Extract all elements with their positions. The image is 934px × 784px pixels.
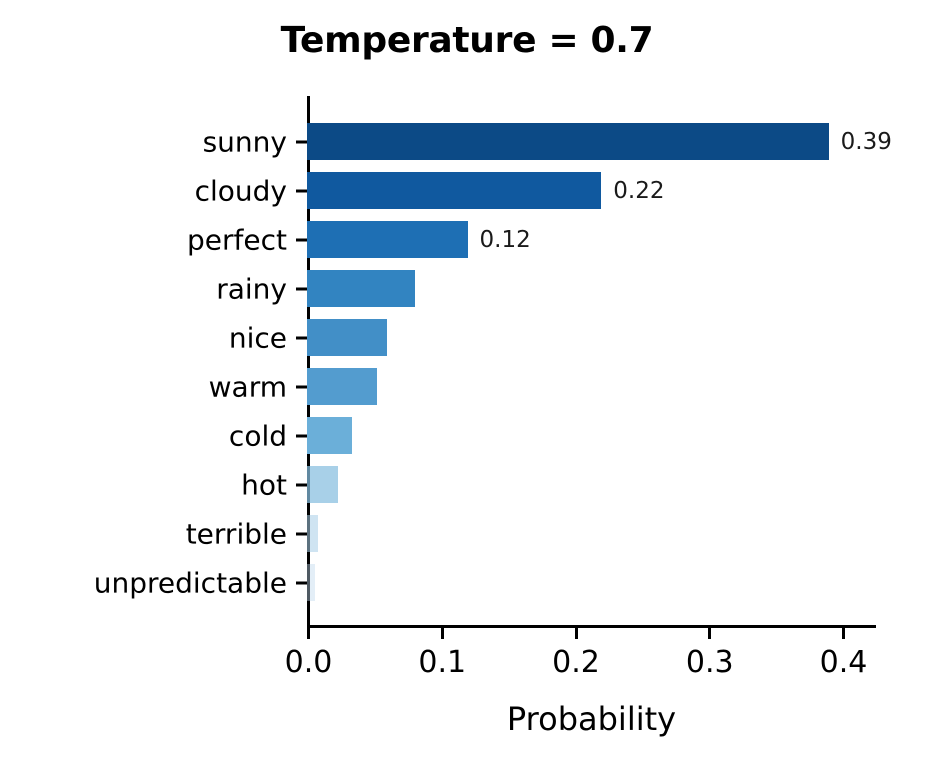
y-tick-label-warm: warm [209, 370, 287, 403]
bar-sunny [307, 123, 829, 160]
bar-terrible [307, 515, 318, 552]
y-tick-mark [296, 434, 307, 437]
x-tick-mark [441, 628, 444, 639]
x-tick-mark [575, 628, 578, 639]
y-tick-label-nice: nice [229, 321, 287, 354]
y-tick-mark [296, 483, 307, 486]
y-tick-label-hot: hot [241, 468, 287, 501]
y-tick-mark [296, 532, 307, 535]
bar-row: 0.22 [307, 172, 876, 209]
bar-row [307, 564, 876, 601]
y-tick-mark [296, 581, 307, 584]
bar-hot [307, 466, 338, 503]
y-tick-label-rainy: rainy [216, 272, 287, 305]
x-tick-label-0.1: 0.1 [418, 645, 466, 680]
bars-layer: 0.390.220.12 [307, 96, 876, 625]
chart-figure: Temperature = 0.7 sunnycloudyperfectrain… [0, 0, 934, 784]
y-tick-mark [296, 385, 307, 388]
bar-value-label: 0.39 [841, 129, 892, 155]
bar-row: 0.12 [307, 221, 876, 258]
y-tick-label-unpredictable: unpredictable [94, 566, 287, 599]
bar-value-label: 0.22 [613, 178, 664, 204]
bar-perfect [307, 221, 468, 258]
bar-row [307, 417, 876, 454]
y-tick-label-cold: cold [229, 419, 287, 452]
x-tick-mark [842, 628, 845, 639]
bar-row: 0.39 [307, 123, 876, 160]
y-tick-label-perfect: perfect [187, 223, 287, 256]
bar-unpredictable [307, 564, 315, 601]
x-tick-mark [307, 628, 310, 639]
y-tick-label-cloudy: cloudy [195, 174, 287, 207]
x-axis-spine [307, 625, 876, 628]
bar-rainy [307, 270, 415, 307]
bar-cold [307, 417, 352, 454]
bar-row [307, 270, 876, 307]
plot-area: 0.390.220.12 [307, 96, 876, 625]
x-tick-mark [708, 628, 711, 639]
bar-nice [307, 319, 387, 356]
y-tick-mark [296, 336, 307, 339]
bar-row [307, 515, 876, 552]
bar-cloudy [307, 172, 601, 209]
bar-row [307, 319, 876, 356]
bar-warm [307, 368, 377, 405]
y-tick-label-terrible: terrible [186, 517, 287, 550]
x-axis-label: Probability [307, 700, 876, 738]
bar-row [307, 466, 876, 503]
x-tick-label-0.2: 0.2 [552, 645, 600, 680]
bar-value-label: 0.12 [480, 227, 531, 253]
bar-row [307, 368, 876, 405]
y-tick-mark [296, 189, 307, 192]
x-tick-label-0.3: 0.3 [686, 645, 734, 680]
y-axis-tick-labels: sunnycloudyperfectrainynicewarmcoldhotte… [0, 0, 307, 784]
x-tick-label-0.0: 0.0 [285, 645, 333, 680]
y-tick-mark [296, 287, 307, 290]
y-tick-mark [296, 140, 307, 143]
y-tick-label-sunny: sunny [203, 125, 287, 158]
x-tick-label-0.4: 0.4 [820, 645, 868, 680]
y-tick-mark [296, 238, 307, 241]
